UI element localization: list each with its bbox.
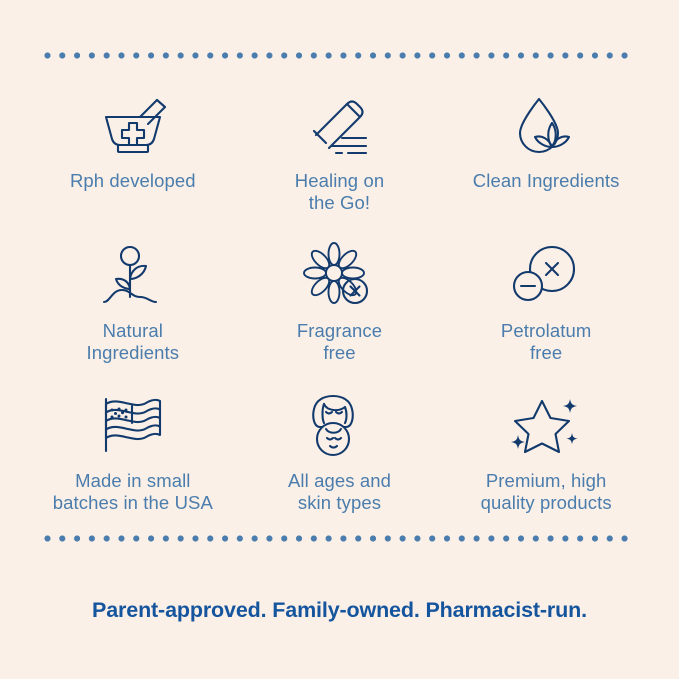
dotted-divider-top — [44, 52, 636, 59]
feature-label: Petrolatum free — [501, 320, 591, 364]
mother-and-baby-icon — [302, 389, 376, 463]
star-sparkles-icon — [509, 389, 583, 463]
feature-label: All ages and skin types — [288, 470, 391, 514]
feature-item: Petrolatum free — [443, 239, 650, 385]
feature-label: Healing on the Go! — [295, 170, 384, 214]
tagline-section: Parent-approved. Family-owned. Pharmacis… — [0, 542, 679, 679]
daisy-no-fragrance-icon — [302, 239, 376, 313]
mortar-pestle-cross-icon — [96, 89, 170, 163]
feature-label: Clean Ingredients — [473, 170, 620, 192]
feature-item: Natural Ingredients — [30, 239, 237, 385]
feature-item: Rph developed — [30, 89, 237, 235]
sprout-plant-icon — [96, 239, 170, 313]
feature-item: Made in small batches in the USA — [30, 389, 237, 535]
dotted-divider-bottom — [44, 535, 636, 542]
feature-item: Healing on the Go! — [236, 89, 443, 235]
feature-label: Premium, high quality products — [481, 470, 612, 514]
droplet-leaves-icon — [509, 89, 583, 163]
feature-item: All ages and skin types — [236, 389, 443, 535]
usa-flag-icon — [96, 389, 170, 463]
feature-label: Rph developed — [70, 170, 196, 192]
feature-highlights-panel: Rph developed Healing on the Go! — [0, 0, 679, 679]
feature-grid: Rph developed Healing on the Go! — [30, 89, 650, 535]
feature-item: Fragrance free — [236, 239, 443, 385]
feature-item: Clean Ingredients — [443, 89, 650, 235]
feature-item: Premium, high quality products — [443, 389, 650, 535]
no-petrolatum-circles-icon — [509, 239, 583, 313]
feature-label: Natural Ingredients — [87, 320, 180, 364]
balm-stick-motion-icon — [302, 89, 376, 163]
feature-label: Made in small batches in the USA — [53, 470, 213, 514]
tagline-text: Parent-approved. Family-owned. Pharmacis… — [92, 598, 587, 623]
feature-label: Fragrance free — [297, 320, 382, 364]
